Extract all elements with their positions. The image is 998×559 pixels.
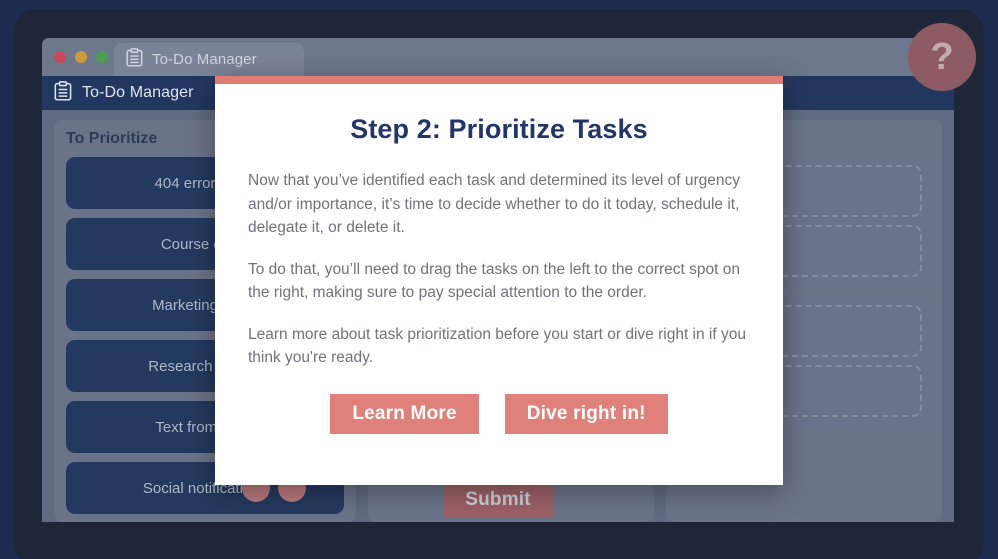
learn-more-button[interactable]: Learn More	[330, 394, 478, 434]
dive-right-in-button[interactable]: Dive right in!	[505, 394, 668, 434]
modal-actions: Learn More Dive right in!	[248, 394, 750, 434]
help-icon[interactable]: ?	[908, 23, 976, 91]
app-title: To-Do Manager	[82, 84, 194, 102]
modal-accent-bar	[215, 76, 783, 84]
modal-content: Step 2: Prioritize Tasks Now that you’ve…	[215, 84, 783, 434]
browser-tab-title: To-Do Manager	[152, 51, 257, 68]
clipboard-icon	[126, 48, 143, 72]
minimize-window-button[interactable]	[75, 51, 87, 63]
maximize-window-button[interactable]	[96, 51, 108, 63]
clipboard-icon	[54, 81, 72, 106]
browser-titlebar: To-Do Manager	[42, 38, 954, 76]
browser-tab[interactable]: To-Do Manager	[114, 43, 304, 76]
close-window-button[interactable]	[54, 51, 66, 63]
screen: To-Do Manager To-Do Manager	[0, 0, 998, 559]
modal-paragraph: Now that you’ve identified each task and…	[248, 169, 750, 240]
modal-paragraph: Learn more about task prioritization bef…	[248, 323, 750, 370]
window-controls[interactable]	[54, 51, 108, 63]
onboarding-modal: Step 2: Prioritize Tasks Now that you’ve…	[215, 76, 783, 485]
modal-paragraph: To do that, you’ll need to drag the task…	[248, 258, 750, 305]
modal-title: Step 2: Prioritize Tasks	[248, 114, 750, 145]
submit-button[interactable]: Submit	[443, 482, 553, 518]
